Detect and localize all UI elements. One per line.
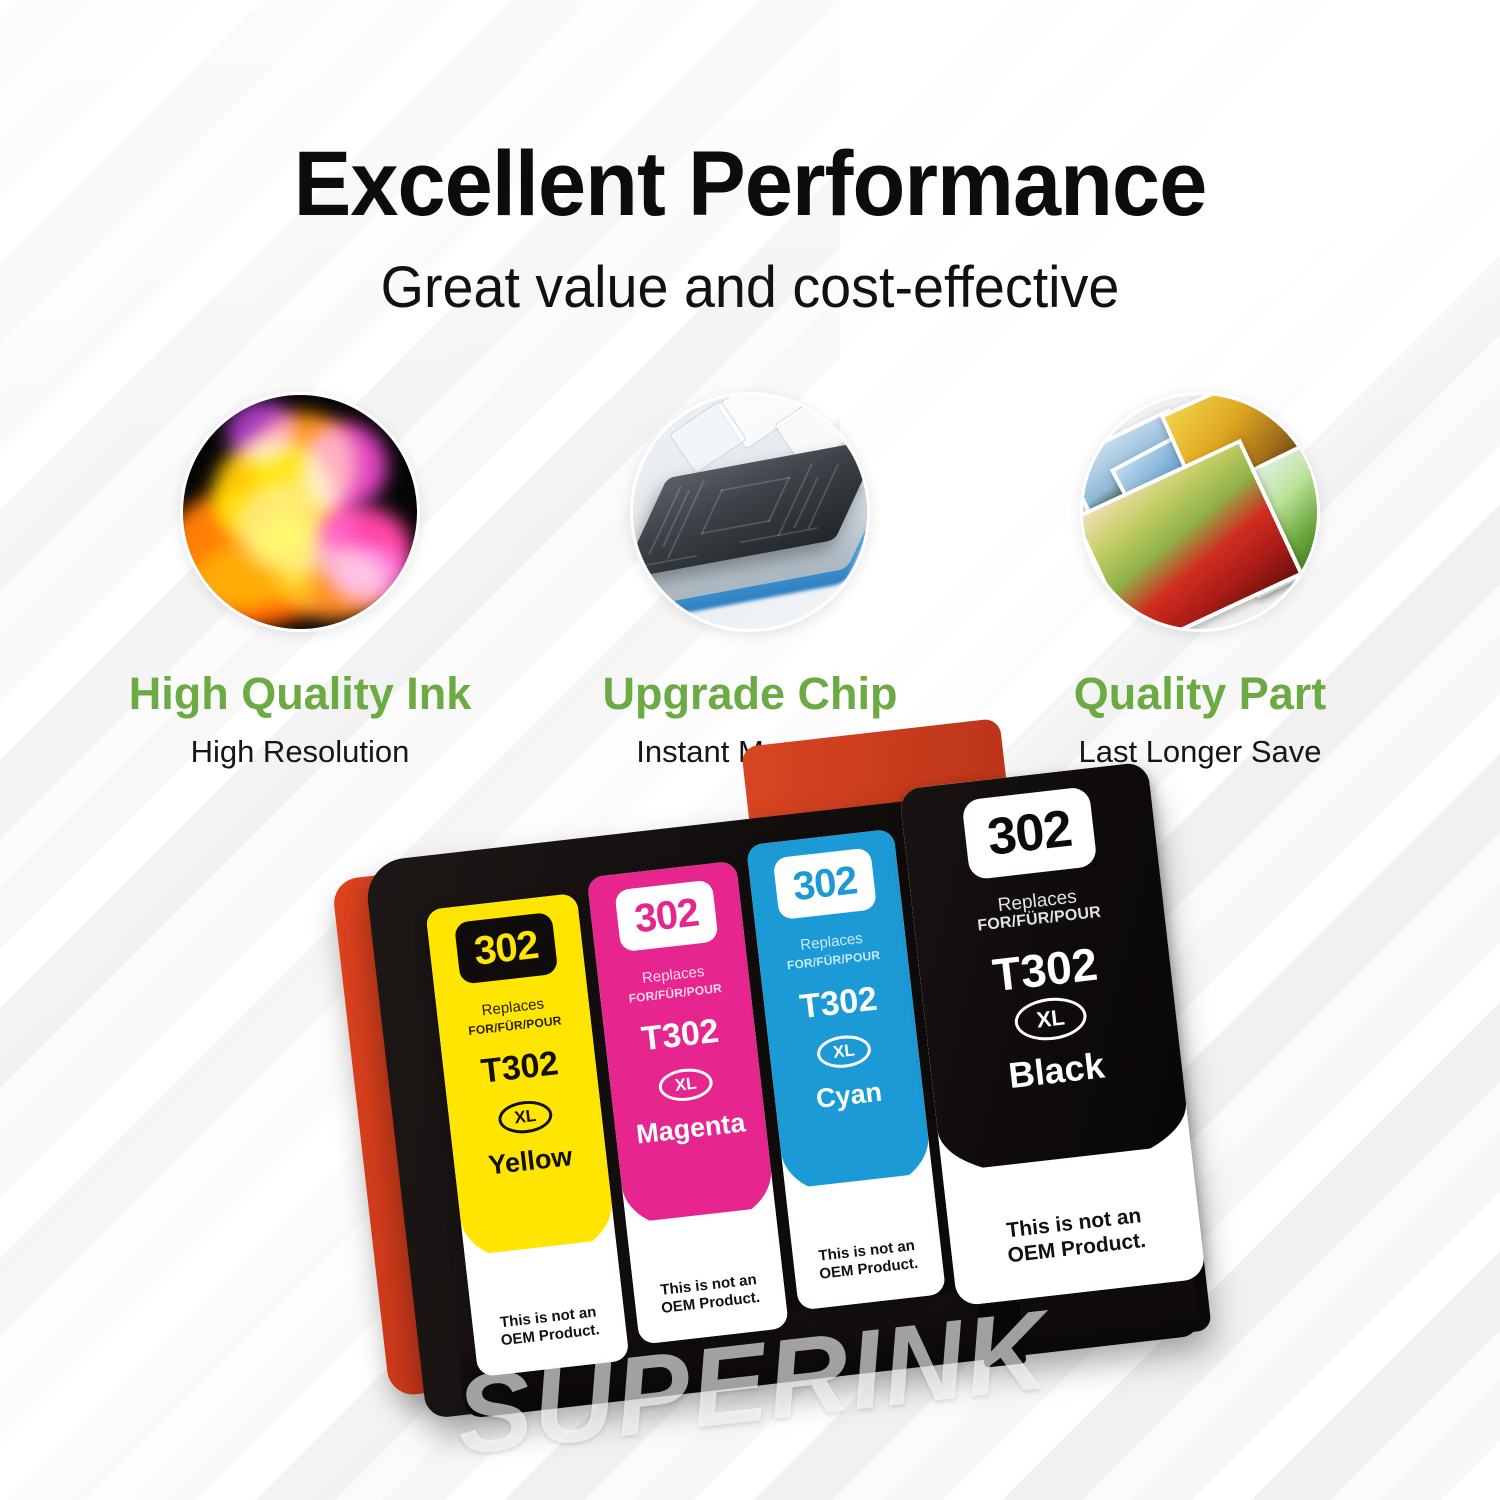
cartridge-badge-number: 302 [632,890,700,942]
ink-splash-icon [180,392,420,632]
feature-quality-part: Quality Part Last Longer Save [990,392,1410,770]
cartridge-size-badge: XL [1013,994,1089,1044]
cartridge-chassis-notch [978,1301,1027,1367]
cartridge-badge-number: 302 [472,923,540,975]
cartridge-size-badge: XL [815,1033,872,1071]
cartridge-badge: 302 [961,786,1097,880]
cartridge-size-badge: XL [657,1066,714,1104]
feature-row: High Quality Ink High Resolution [90,392,1410,770]
cartridge-color-label: Black [930,1036,1183,1106]
feature-title: High Quality Ink [129,668,472,720]
cartridge-badge: 302 [454,912,558,985]
cartridge-model-label: T302 [763,975,914,1031]
cartridge-badge-number: 302 [791,858,859,910]
cartridge-size-badge: XL [497,1098,554,1136]
cartridge-badge-number: 302 [984,799,1074,868]
header-block: Excellent Performance Great value and co… [0,138,1500,321]
cartridge-model-label: T302 [442,1040,597,1096]
cartridge-color-label: Cyan [774,1072,925,1120]
cartridge-group: 302 Replaces FOR/FÜR/POUR T302 XL Yellow… [307,721,1274,1459]
cartridge-color-label: Yellow [453,1137,608,1185]
feature-subtitle: High Resolution [191,734,410,770]
photo-prints-icon [1080,392,1320,632]
feature-title: Upgrade Chip [602,668,897,720]
cartridge-model-label: T302 [603,1008,756,1064]
feature-high-quality-ink: High Quality Ink High Resolution [90,392,510,770]
cartridge-badge: 302 [614,880,718,953]
feature-title: Quality Part [1074,668,1327,720]
chip-icon [630,392,870,632]
page-subtitle: Great value and cost-effective [30,254,1470,321]
page-title: Excellent Performance [45,138,1455,232]
cartridge-color-label: Magenta [615,1105,768,1153]
feature-upgrade-chip: Upgrade Chip Instant Matching [540,392,960,770]
product-image: 302 Replaces FOR/FÜR/POUR T302 XL Yellow… [0,770,1500,1430]
cartridge-badge: 302 [773,848,877,921]
